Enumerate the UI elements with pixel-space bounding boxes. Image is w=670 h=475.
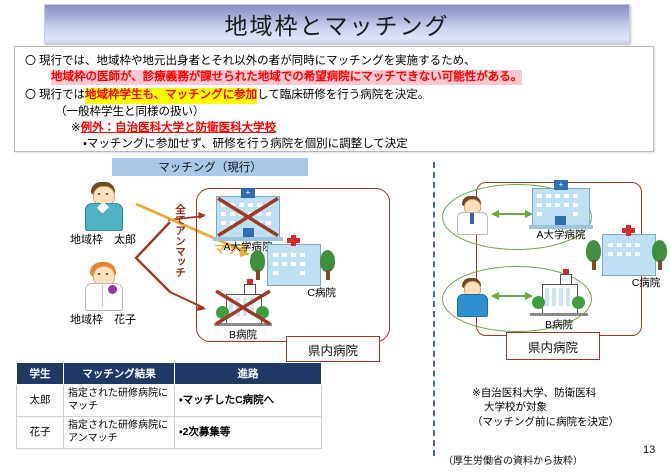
hospital-b-building-icon	[214, 290, 272, 326]
table-cell-path-hanako: ・2次募集等	[175, 417, 322, 449]
right-hospital-b-building-icon	[530, 280, 588, 316]
kennai-hospital-label: 県内病院	[286, 336, 380, 362]
section-divider	[433, 162, 435, 456]
matching-header-label: マッチング（現行）	[158, 159, 262, 175]
summary-line-3: 〇 現行では地域枠学生も、マッチングに参加して臨床研修を行う病院を決定。	[15, 88, 653, 103]
right-hospital-c: C病院	[586, 232, 666, 290]
exception-note: ※自治医科大学、防衛医科 大学校が対象 （マッチング前に病院を決定）	[472, 386, 662, 429]
summary-line-4-text: （一般枠学生と同様の扱い）	[55, 105, 205, 120]
exception-note-line-3: （マッチング前に病院を決定）	[472, 416, 619, 428]
summary-line-3-highlight: 地域枠学生も、マッチングに参加	[85, 88, 257, 103]
table-cell-student-taro: 太郎	[17, 385, 64, 417]
tree-icon-left	[250, 250, 265, 280]
table-row: 太郎 指定された研修病院にマッチ ・マッチしたC病院へ	[17, 385, 322, 417]
right-hospital-c-building-icon	[602, 234, 656, 276]
page-number: 13	[643, 444, 655, 456]
table-row: 花子 指定された研修病院にアンマッチ ・2次募集等	[17, 417, 322, 449]
source-footer: （厚生労働省の資料から抜粋）	[443, 452, 583, 467]
right-tree-icon-right	[652, 240, 667, 270]
matching-header-bar: マッチング（現行）	[112, 158, 308, 176]
table-header-path: 進路	[175, 363, 322, 385]
note-mark: ※	[71, 121, 81, 136]
summary-line-1-text: 現行では、地域枠や地元出身者とそれ以外の者が同時にマッチングを実施するため、	[39, 54, 476, 69]
hospital-b: B病院	[214, 290, 272, 342]
right-diagram: + A大学病院	[440, 180, 658, 360]
tree-icon-right	[320, 250, 335, 280]
table-cell-student-hanako: 花子	[17, 417, 64, 449]
table-cell-result-hanako: 指定された研修病院にアンマッチ	[64, 417, 175, 449]
summary-line-6: ・マッチングに参加せず、研修を行う病院を個別に調整して決定	[15, 137, 653, 152]
right-hospital-a: + A大学病院	[532, 188, 590, 242]
summary-line-2-text: 地域枠の医師が、診療義務が課せられた地域での希望病院にマッチできない可能性がある…	[51, 70, 522, 85]
summary-line-5: ※例外：自治医科大学と防衛医科大学校	[15, 121, 653, 136]
right-kennai-hospital-label: 県内病院	[506, 332, 600, 360]
page-title: 地域枠とマッチング	[225, 7, 450, 41]
summary-line-5-highlight: 例外：自治医科大学と防衛医科大学校	[81, 121, 277, 136]
table-cell-result-taro: 指定された研修病院にマッチ	[64, 385, 175, 417]
hospital-a-building-icon: +	[216, 196, 280, 238]
summary-line-3-suffix: して臨床研修を行う病院を決定。	[257, 88, 429, 103]
summary-line-2: 地域枠の医師が、診療義務が課せられた地域での希望病院にマッチできない可能性がある…	[15, 70, 653, 85]
right-hospital-b: B病院	[530, 280, 588, 332]
summary-line-4: （一般枠学生と同様の扱い）	[15, 105, 653, 120]
summary-line-3-prefix: 現行では	[39, 88, 85, 103]
right-tree-icon-left	[586, 240, 601, 270]
results-table: 学生 マッチング結果 進路 太郎 指定された研修病院にマッチ ・マッチしたC病院…	[16, 362, 322, 449]
bullet-marker: 〇	[25, 54, 39, 69]
summary-textbox: 〇 現行では、地域枠や地元出身者とそれ以外の者が同時にマッチングを実施するため、…	[14, 46, 654, 152]
summary-line-6-text: ・マッチングに参加せず、研修を行う病院を個別に調整して決定	[83, 137, 408, 152]
right-hospital-a-label: A大学病院	[532, 227, 590, 242]
right-hospital-a-building-icon: +	[532, 188, 590, 226]
exception-note-line-1: ※自治医科大学、防衛医科	[472, 387, 596, 399]
hospital-c-label: C病院	[294, 285, 336, 300]
right-hospital-c-label: C病院	[626, 275, 666, 290]
unmatch-label: 全てアンマッチ	[170, 204, 185, 278]
exception-note-line-2: 大学校が対象	[472, 400, 662, 414]
hospital-c-building-icon	[267, 244, 321, 286]
table-header-result: マッチング結果	[64, 363, 175, 385]
slide-root: 地域枠とマッチング 〇 現行では、地域枠や地元出身者とそれ以外の者が同時にマッチ…	[0, 0, 670, 475]
bullet-marker-2: 〇	[25, 88, 39, 103]
table-header-row: 学生 マッチング結果 進路	[17, 363, 322, 385]
hospital-b-label: B病院	[214, 327, 272, 342]
summary-line-1: 〇 現行では、地域枠や地元出身者とそれ以外の者が同時にマッチングを実施するため、	[15, 54, 653, 69]
table-cell-path-taro: ・マッチしたC病院へ	[175, 385, 322, 417]
left-diagram: 地域枠 太郎 地域枠 花子 全てアンマッチ マッチ	[18, 180, 418, 360]
right-hospital-b-label: B病院	[530, 317, 588, 332]
slide-title-banner: 地域枠とマッチング	[44, 4, 630, 44]
table-header-student: 学生	[17, 363, 64, 385]
